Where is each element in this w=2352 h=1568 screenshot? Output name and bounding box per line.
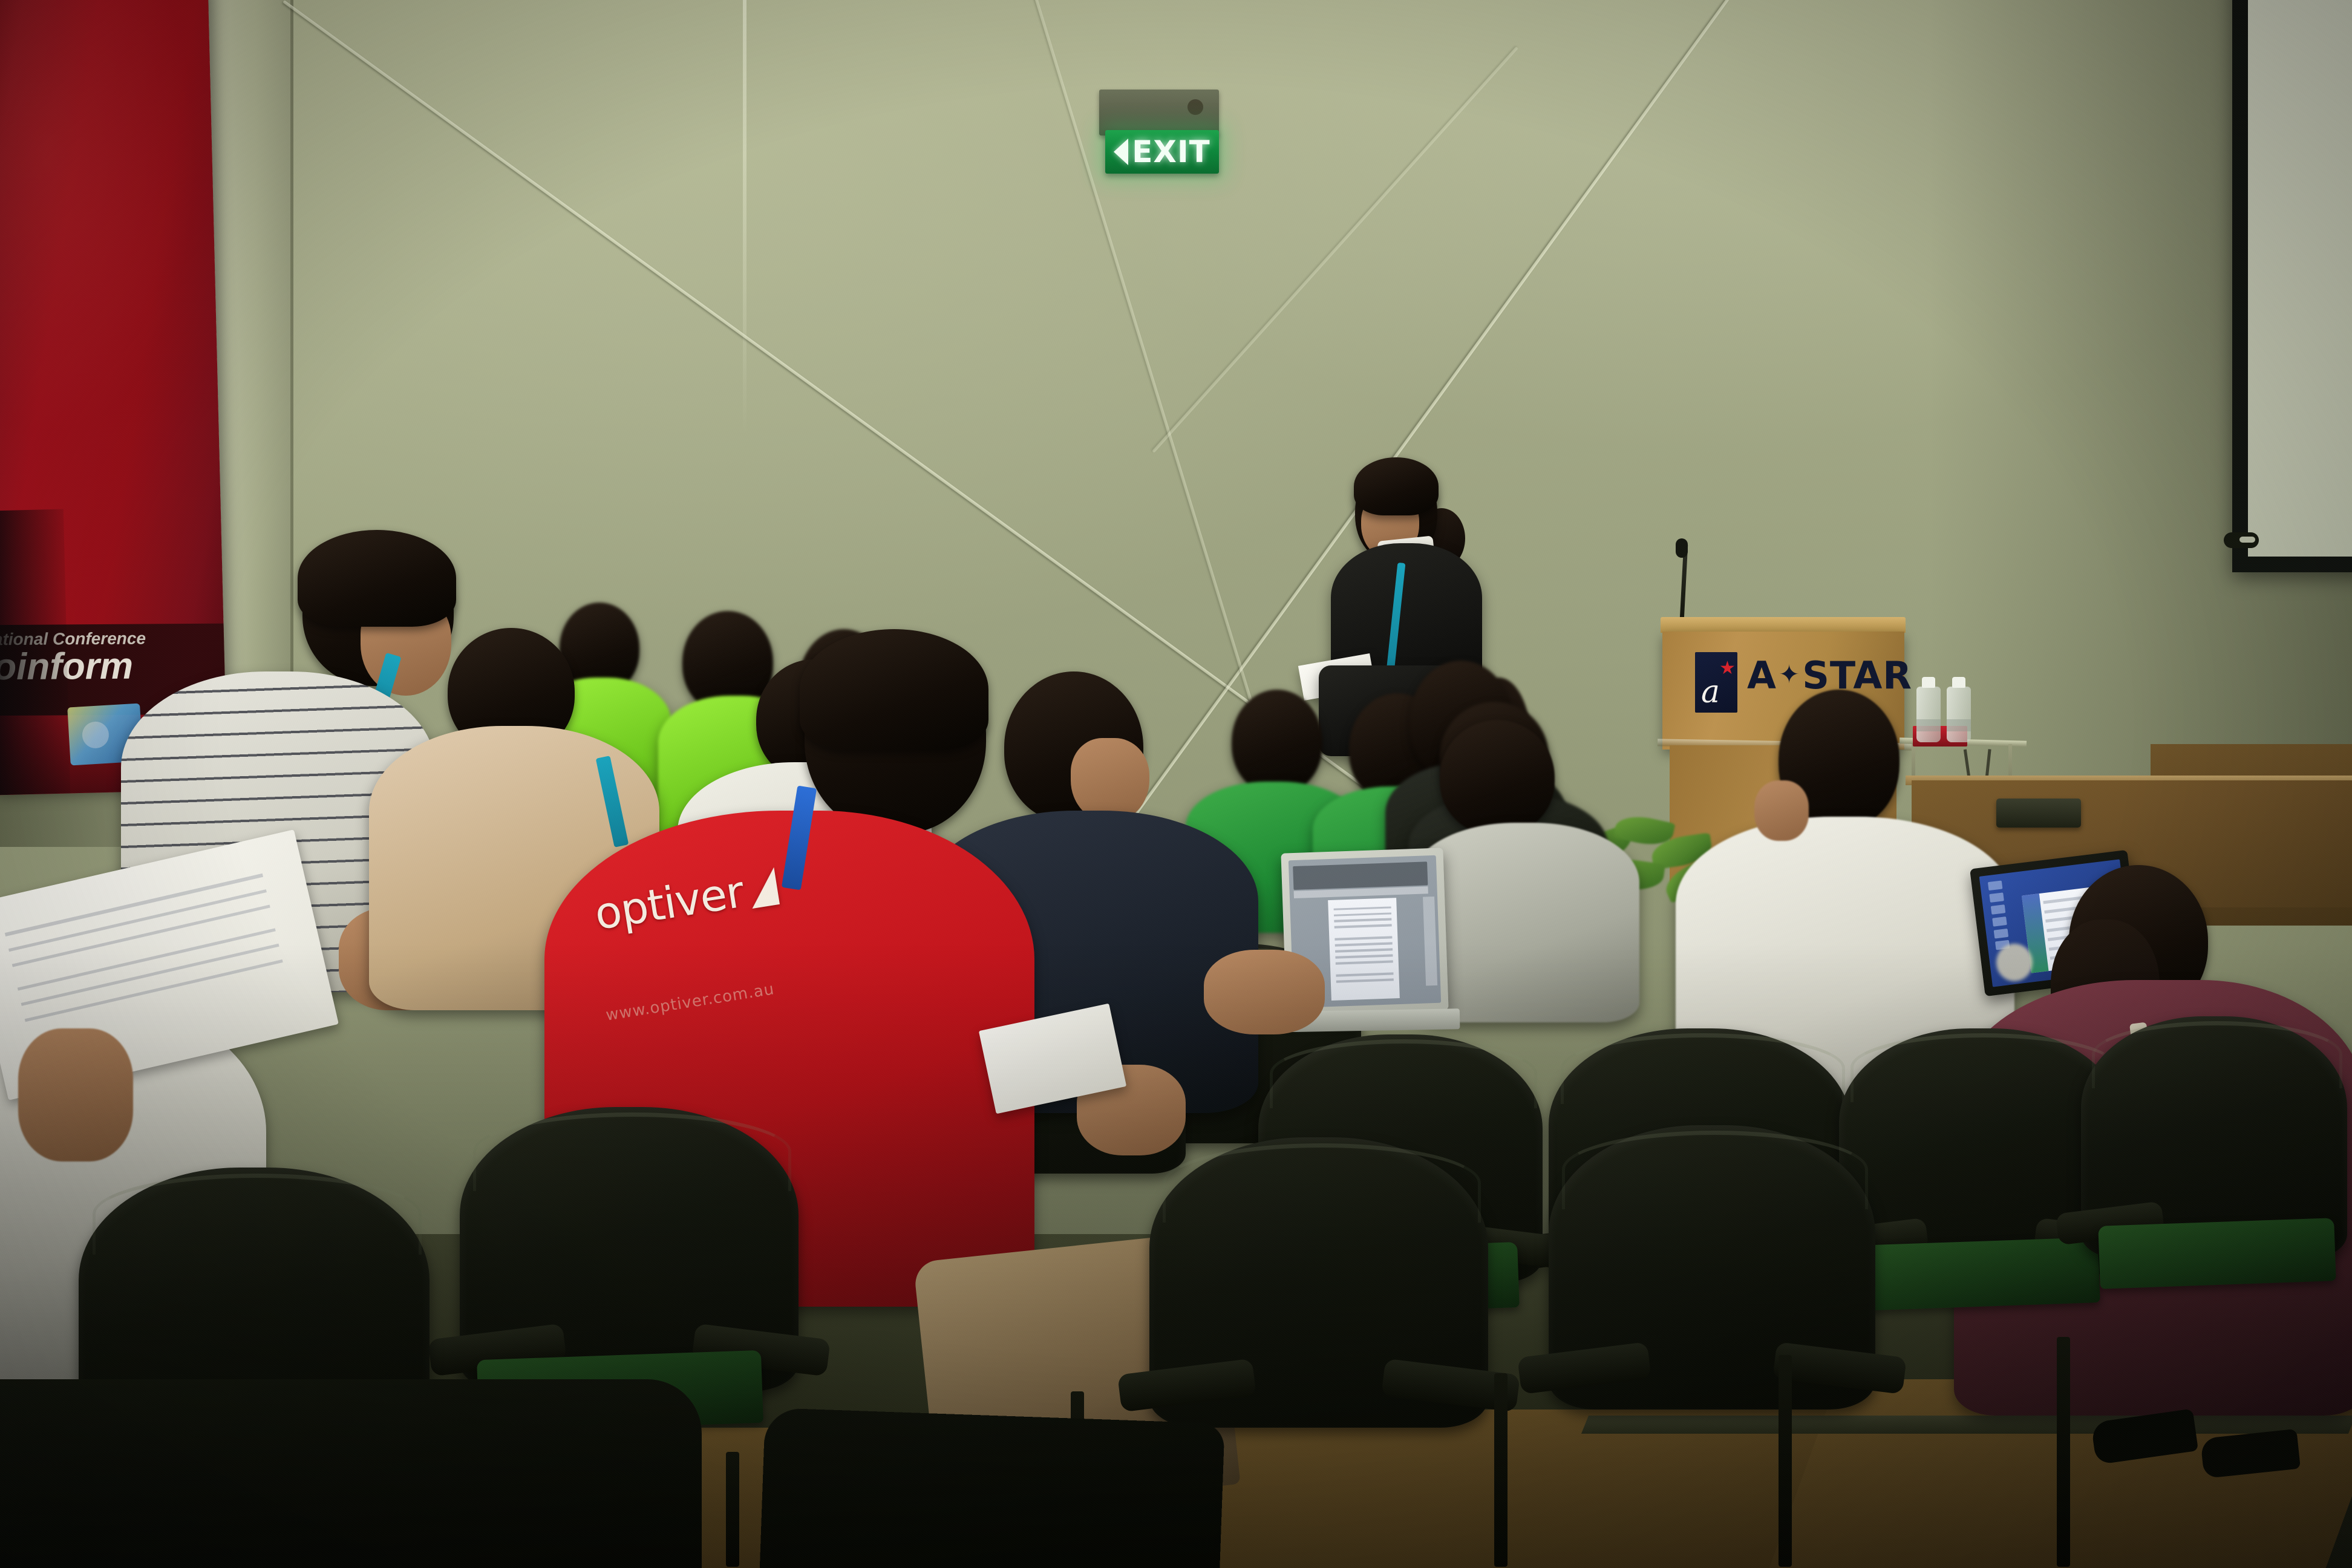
seat-pedestal [1494,1373,1508,1567]
lecture-hall-photo: l Bioinformatics me Analysis Biology & P… [0,0,2352,1568]
front-seat-row-silhouette-2 [759,1408,1224,1568]
reader-scroll-area[interactable] [1423,897,1438,985]
astar-word-star: STAR [1802,657,1912,694]
water-bottle-2 [1947,687,1971,742]
auditorium-seat-cushion[interactable] [1856,1237,2100,1311]
astar-wordmark: A ✦ STAR [1747,657,1912,694]
presenter-hair [1354,457,1439,515]
lectern-top-surface [1661,617,1906,633]
bottle-label-2 [1947,719,1971,731]
projection-screen [2232,0,2352,572]
astar-wordmark-star-icon: ✦ [1779,662,1800,687]
astar-letter-a: a [1701,676,1720,708]
exit-sign-mount-bracket [1099,90,1219,136]
wall-seam-vertical [743,0,746,436]
bottle-cap-1 [1922,677,1935,688]
exit-sign-label: EXIT [1132,137,1210,167]
seat-pedestal [726,1452,739,1567]
astar-logo-mark: ★ a [1695,652,1737,713]
emergency-exit-sign: EXIT [1105,130,1219,174]
auditorium-seat[interactable] [1549,1125,1875,1410]
auditorium-seat[interactable] [1149,1137,1488,1428]
water-bottle-1 [1916,687,1941,742]
seat-pedestal [2057,1337,2070,1567]
astar-word-a: A [1747,657,1777,694]
banner-shadow-edge [0,509,70,795]
exit-left-arrow-icon [1114,139,1128,165]
optiver-triangle-icon [746,867,779,909]
reader-toolbar[interactable] [1293,861,1428,890]
document-page [1328,898,1400,1001]
projection-screen-roller-knob [2224,532,2259,548]
bottle-cap-2 [1952,677,1965,688]
astar-star-icon: ★ [1719,659,1736,678]
hair-clip [1996,944,2033,981]
av-control-box [1996,799,2081,828]
bottle-label-1 [1916,719,1941,731]
floor-step-edge [1581,1416,2352,1434]
seat-pedestal [1779,1355,1792,1567]
conference-rollup-banner: l Bioinformatics me Analysis Biology & P… [0,0,227,795]
front-seat-row-silhouette [0,1379,702,1568]
microphone-head-icon [1676,538,1688,558]
auditorium-seat[interactable] [460,1107,799,1391]
auditorium-seat-cushion[interactable] [2098,1218,2336,1289]
